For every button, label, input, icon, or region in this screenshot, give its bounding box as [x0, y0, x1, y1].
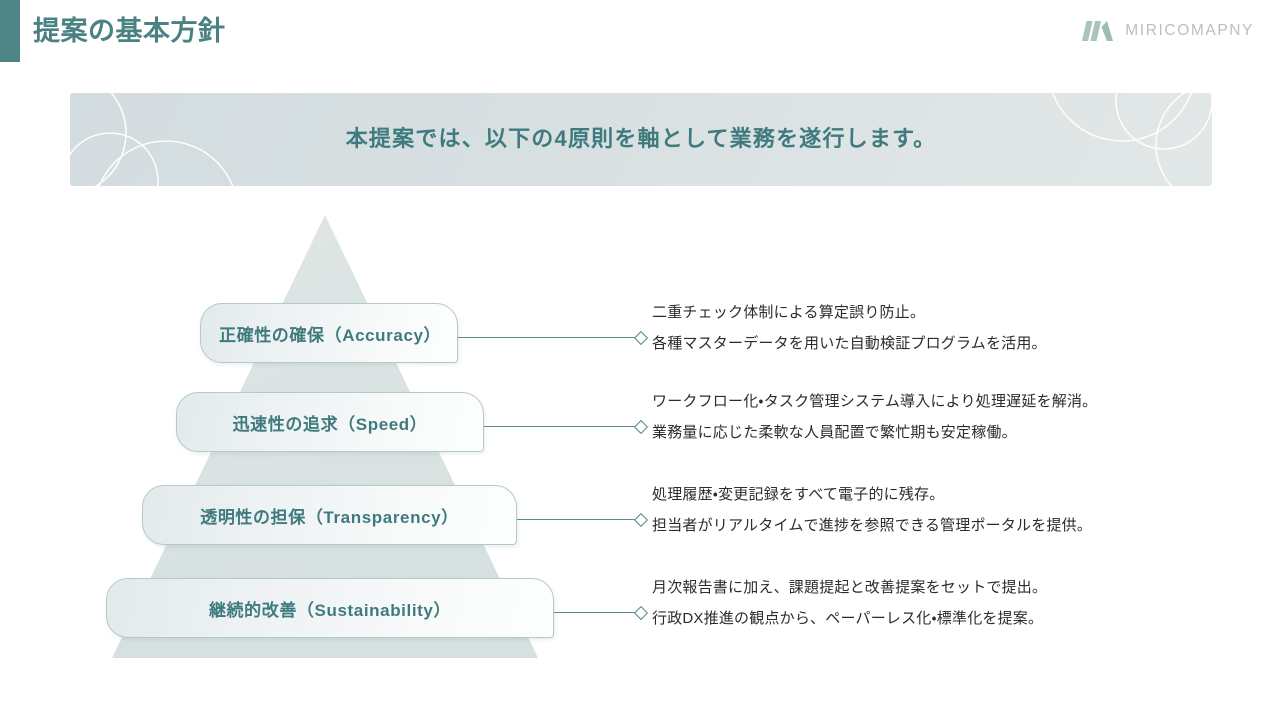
principle-row: 透明性の担保（Transparency） 処理履歴・変更記録をすべて電子的に残存… — [142, 485, 1260, 545]
principle-card-transparency[interactable]: 透明性の担保（Transparency） — [142, 485, 517, 545]
title-accent-bar — [0, 0, 20, 62]
principle-row: 継続的改善（Sustainability） 月次報告書に加え、課題提起と改善提案… — [106, 578, 1260, 638]
desc-line: 業務量に応じた柔軟な人員配置で繁忙期も安定稼働。 — [652, 417, 1212, 448]
brand-name: MIRICOMAPNY — [1125, 22, 1254, 40]
brand-logo: MIRICOMAPNY — [1080, 18, 1254, 44]
connector-line — [484, 426, 638, 427]
principle-label: 透明性の担保（Transparency） — [143, 503, 516, 528]
connector-diamond-icon — [634, 420, 648, 434]
desc-line: 二重チェック体制による算定誤り防止。 — [652, 297, 1212, 328]
headline-text: 本提案では、以下の4原則を軸として業務を遂行します。 — [70, 119, 1212, 159]
connector-transparency — [517, 514, 646, 526]
desc-line: 処理履歴・変更記録をすべて電子的に残存。 — [652, 479, 1212, 510]
connector-diamond-icon — [634, 331, 648, 345]
principle-row: 迅速性の追求（Speed） ワークフロー化・タスク管理システム導入により処理遅延… — [176, 392, 1260, 452]
principle-description-speed: ワークフロー化・タスク管理システム導入により処理遅延を解消。 業務量に応じた柔軟… — [652, 386, 1212, 448]
principle-row: 正確性の確保（Accuracy） 二重チェック体制による算定誤り防止。 各種マス… — [200, 303, 1260, 363]
desc-line: 月次報告書に加え、課題提起と改善提案をセットで提出。 — [652, 572, 1212, 603]
desc-line: 行政DX推進の観点から、ペーパーレス化・標準化を提案。 — [652, 603, 1212, 634]
principle-description-accuracy: 二重チェック体制による算定誤り防止。 各種マスターデータを用いた自動検証プログラ… — [652, 297, 1212, 359]
page-title: 提案の基本方針 — [33, 13, 226, 49]
connector-line — [458, 337, 638, 338]
desc-line: 担当者がリアルタイムで進捗を参照できる管理ポータルを提供。 — [652, 510, 1212, 541]
desc-line: ワークフロー化・タスク管理システム導入により処理遅延を解消。 — [652, 386, 1212, 417]
desc-line: 各種マスターデータを用いた自動検証プログラムを活用。 — [652, 328, 1212, 359]
principle-description-transparency: 処理履歴・変更記録をすべて電子的に残存。 担当者がリアルタイムで進捗を参照できる… — [652, 479, 1212, 541]
m-monogram-icon — [1080, 18, 1114, 44]
headline-banner: 本提案では、以下の4原則を軸として業務を遂行します。 — [70, 93, 1212, 186]
slide-header: 提案の基本方針 MIRICOMAPNY — [0, 0, 1280, 64]
connector-speed — [484, 421, 646, 433]
principle-label: 継続的改善（Sustainability） — [107, 596, 553, 621]
principle-card-speed[interactable]: 迅速性の追求（Speed） — [176, 392, 484, 452]
principle-card-sustainability[interactable]: 継続的改善（Sustainability） — [106, 578, 554, 638]
connector-diamond-icon — [634, 513, 648, 527]
connector-sustainability — [554, 607, 646, 619]
connector-accuracy — [458, 332, 646, 344]
principle-label: 正確性の確保（Accuracy） — [201, 321, 457, 346]
connector-line — [554, 612, 638, 613]
connector-line — [517, 519, 638, 520]
connector-diamond-icon — [634, 606, 648, 620]
principle-label: 迅速性の追求（Speed） — [177, 410, 483, 435]
principle-description-sustainability: 月次報告書に加え、課題提起と改善提案をセットで提出。 行政DX推進の観点から、ペ… — [652, 572, 1212, 634]
principle-card-accuracy[interactable]: 正確性の確保（Accuracy） — [200, 303, 458, 363]
